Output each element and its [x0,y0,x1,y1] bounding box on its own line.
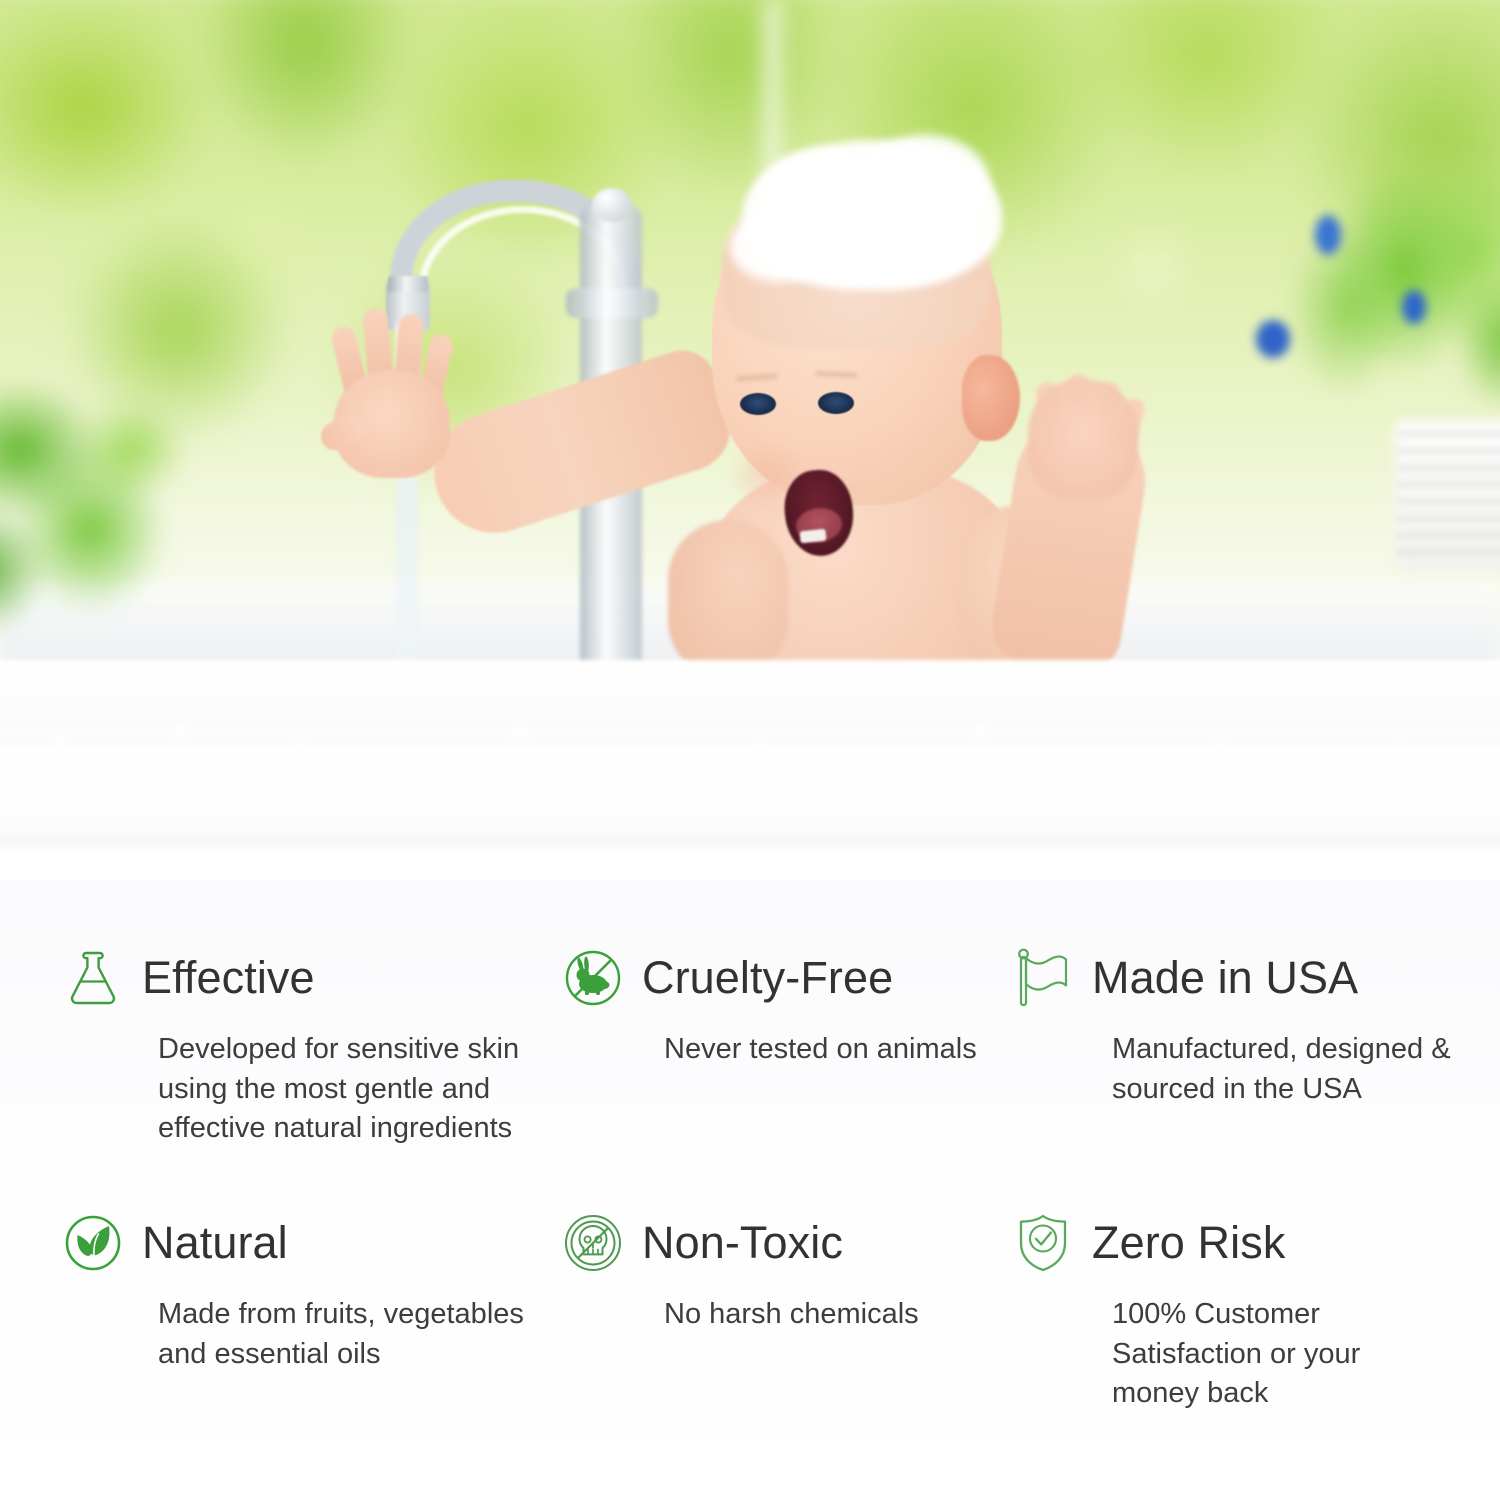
feature-description: Made from fruits, vegetables and essenti… [158,1295,538,1374]
feature-grid: Effective Developed for sensitive skin u… [0,880,1500,1500]
feature-zero-risk: Zero Risk 100% Customer Satisfaction or … [1012,1205,1500,1470]
baby-hand-left [312,300,462,470]
product-feature-page: Effective Developed for sensitive skin u… [0,0,1500,1500]
flask-icon [62,947,124,1009]
feature-description: Manufactured, designed & sourced in the … [1112,1030,1452,1109]
counter-top [0,745,1500,850]
flag-icon [1012,947,1074,1009]
feature-description: Never tested on animals [664,1030,1012,1070]
feature-non-toxic: Non-Toxic No harsh chemicals [562,1205,1012,1470]
feature-header: Natural [62,1205,562,1281]
soap-foam-blob [860,135,990,235]
soap-foam-blob [730,210,830,282]
feature-title: Effective [142,952,315,1004]
feature-header: Zero Risk [1012,1205,1500,1281]
feature-effective: Effective Developed for sensitive skin u… [62,940,562,1205]
feature-title: Natural [142,1217,288,1269]
feature-title: Made in USA [1092,952,1358,1004]
baby-hand-right [1028,380,1138,500]
shield-check-icon [1012,1212,1074,1274]
feature-cruelty-free: Cruelty-Free Never tested on animals [562,940,1012,1205]
feature-title: Cruelty-Free [642,952,893,1004]
hero-photo [0,0,1500,880]
baby-eye-right [818,392,854,414]
feature-header: Cruelty-Free [562,940,1012,1016]
no-skull-icon [562,1212,624,1274]
feature-description: No harsh chemicals [664,1295,1012,1335]
feature-title: Non-Toxic [642,1217,843,1269]
feature-made-in-usa: Made in USA Manufactured, designed & sou… [1012,940,1500,1205]
no-rabbit-icon [562,947,624,1009]
leaves-icon [62,1212,124,1274]
baby-arm-left [419,342,741,549]
feature-header: Non-Toxic [562,1205,1012,1281]
feature-header: Effective [62,940,562,1016]
feature-header: Made in USA [1012,940,1500,1016]
feature-title: Zero Risk [1092,1217,1285,1269]
feature-description: 100% Customer Satisfaction or your money… [1112,1295,1452,1414]
counter-edge [0,838,1500,848]
baby-shoulder-left [668,520,788,680]
feature-natural: Natural Made from fruits, vegetables and… [62,1205,562,1470]
baby-eye-left [740,393,776,415]
feature-description: Developed for sensitive skin using the m… [158,1030,558,1149]
baby-ear [962,355,1020,441]
